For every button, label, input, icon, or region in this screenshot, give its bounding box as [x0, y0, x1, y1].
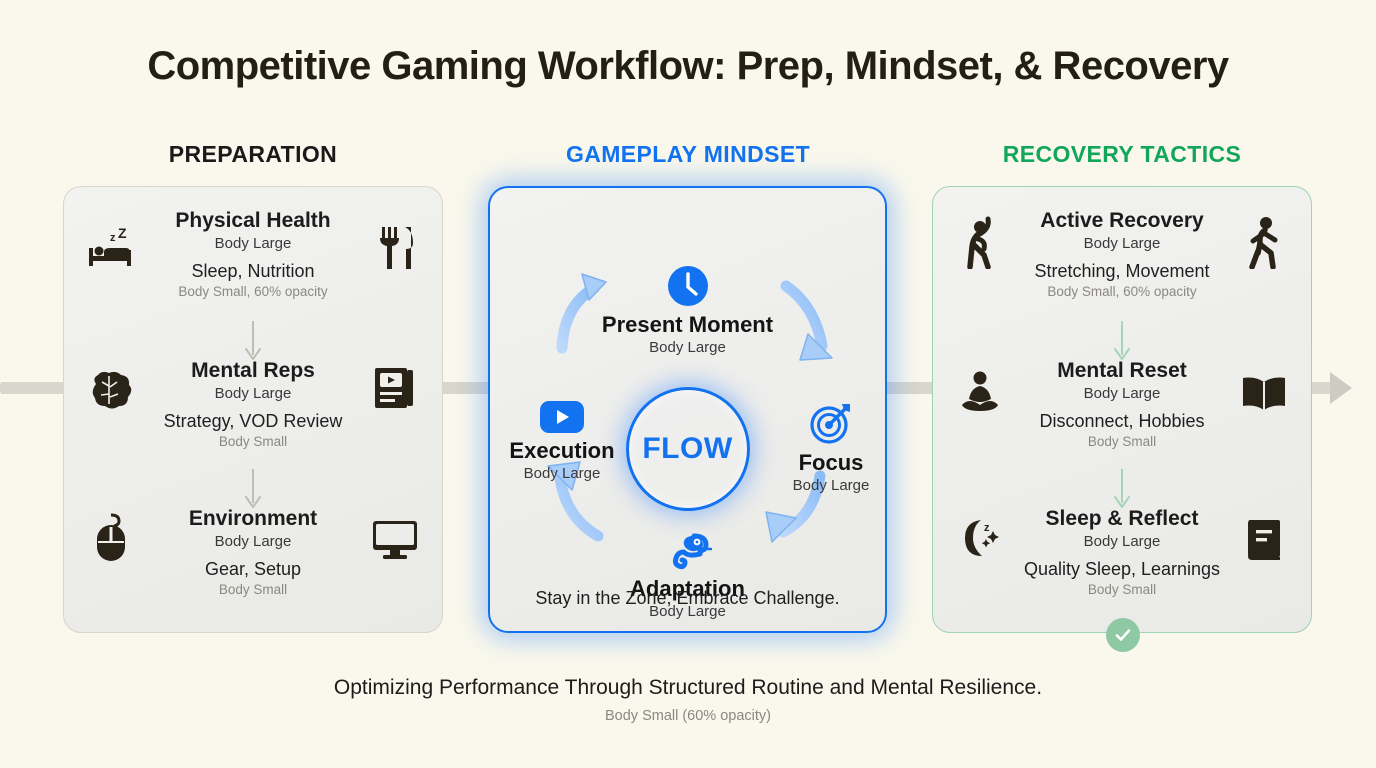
cycle-node-present-moment: Present Moment Body Large	[558, 264, 818, 356]
node-subtitle: Body Large	[746, 477, 916, 494]
cycle-node-focus: Focus Body Large	[746, 400, 916, 494]
walking-person-icon	[1237, 215, 1291, 269]
target-dart-icon	[746, 400, 916, 446]
mindset-footer-text: Stay in the Zone, Embrace Challenge.	[490, 588, 885, 609]
recovery-step-sleep-reflect: z Sleep & Reflect Body Large Quality Sle…	[933, 507, 1311, 597]
svg-text:z: z	[110, 232, 116, 244]
recovery-step-active-recovery: Active Recovery Body Large Stretching, M…	[933, 209, 1311, 299]
step-caption: Body Small, 60% opacity	[64, 284, 442, 299]
mouse-icon	[84, 511, 138, 565]
open-book-icon	[1237, 367, 1291, 421]
step-caption: Body Small, 60% opacity	[933, 284, 1311, 299]
meditating-person-icon	[953, 365, 1007, 419]
panel-recovery-tactics: Active Recovery Body Large Stretching, M…	[932, 186, 1312, 633]
node-title: Focus	[746, 451, 916, 475]
prep-step-environment: Environment Body Large Gear, Setup Body …	[64, 507, 442, 597]
connector-rail-mindset-to-recovery	[882, 382, 936, 394]
svg-text:z: z	[984, 522, 990, 534]
flow-cycle-diagram: FLOW Present Moment Body Large	[490, 188, 885, 631]
play-button-icon	[462, 400, 662, 434]
footer-primary-text: Optimizing Performance Through Structure…	[0, 676, 1376, 700]
step-caption: Body Small	[933, 434, 1311, 449]
video-book-icon	[368, 361, 422, 415]
bed-sleep-icon: z Z	[84, 223, 138, 277]
brain-icon	[84, 365, 138, 419]
stretching-person-icon	[953, 215, 1007, 269]
footer-secondary-text: Body Small (60% opacity)	[0, 708, 1376, 724]
panel-gameplay-mindset: FLOW Present Moment Body Large	[488, 186, 887, 633]
monitor-icon	[368, 513, 422, 567]
svg-text:Z: Z	[118, 228, 127, 241]
column-header-mindset: GAMEPLAY MINDSET	[488, 141, 888, 168]
step-caption: Body Small	[933, 582, 1311, 597]
journal-icon	[1237, 513, 1291, 567]
completion-check-badge	[1106, 618, 1140, 652]
prep-step-physical-health: z Z Physical Health	[64, 209, 442, 299]
chameleon-icon	[558, 530, 818, 572]
connector-rail-left-entry	[0, 382, 66, 394]
node-subtitle: Body Large	[558, 339, 818, 356]
flow-arrow-right-icon	[1330, 372, 1352, 404]
recovery-step-mental-reset: Mental Reset Body Large Disconnect, Hobb…	[933, 359, 1311, 449]
node-title: Present Moment	[558, 313, 818, 337]
step-caption: Body Small	[64, 582, 442, 597]
check-icon	[1113, 625, 1133, 645]
moon-zzz-icon: z	[953, 511, 1007, 565]
infographic-canvas: Competitive Gaming Workflow: Prep, Minds…	[0, 0, 1376, 768]
fork-knife-icon	[368, 221, 422, 275]
connector-rail-prep-to-mindset	[438, 382, 492, 394]
node-title: Execution	[462, 439, 662, 463]
page-title: Competitive Gaming Workflow: Prep, Minds…	[0, 44, 1376, 89]
node-subtitle: Body Large	[462, 465, 662, 482]
column-header-recovery: RECOVERY TACTICS	[932, 141, 1312, 168]
cycle-node-execution: Execution Body Large	[462, 400, 662, 482]
prep-step-mental-reps: Mental Reps Body Large Strategy, VOD Rev…	[64, 359, 442, 449]
panel-preparation: z Z Physical Health	[63, 186, 443, 633]
step-caption: Body Small	[64, 434, 442, 449]
clock-icon	[558, 264, 818, 308]
column-header-preparation: PREPARATION	[63, 141, 443, 168]
